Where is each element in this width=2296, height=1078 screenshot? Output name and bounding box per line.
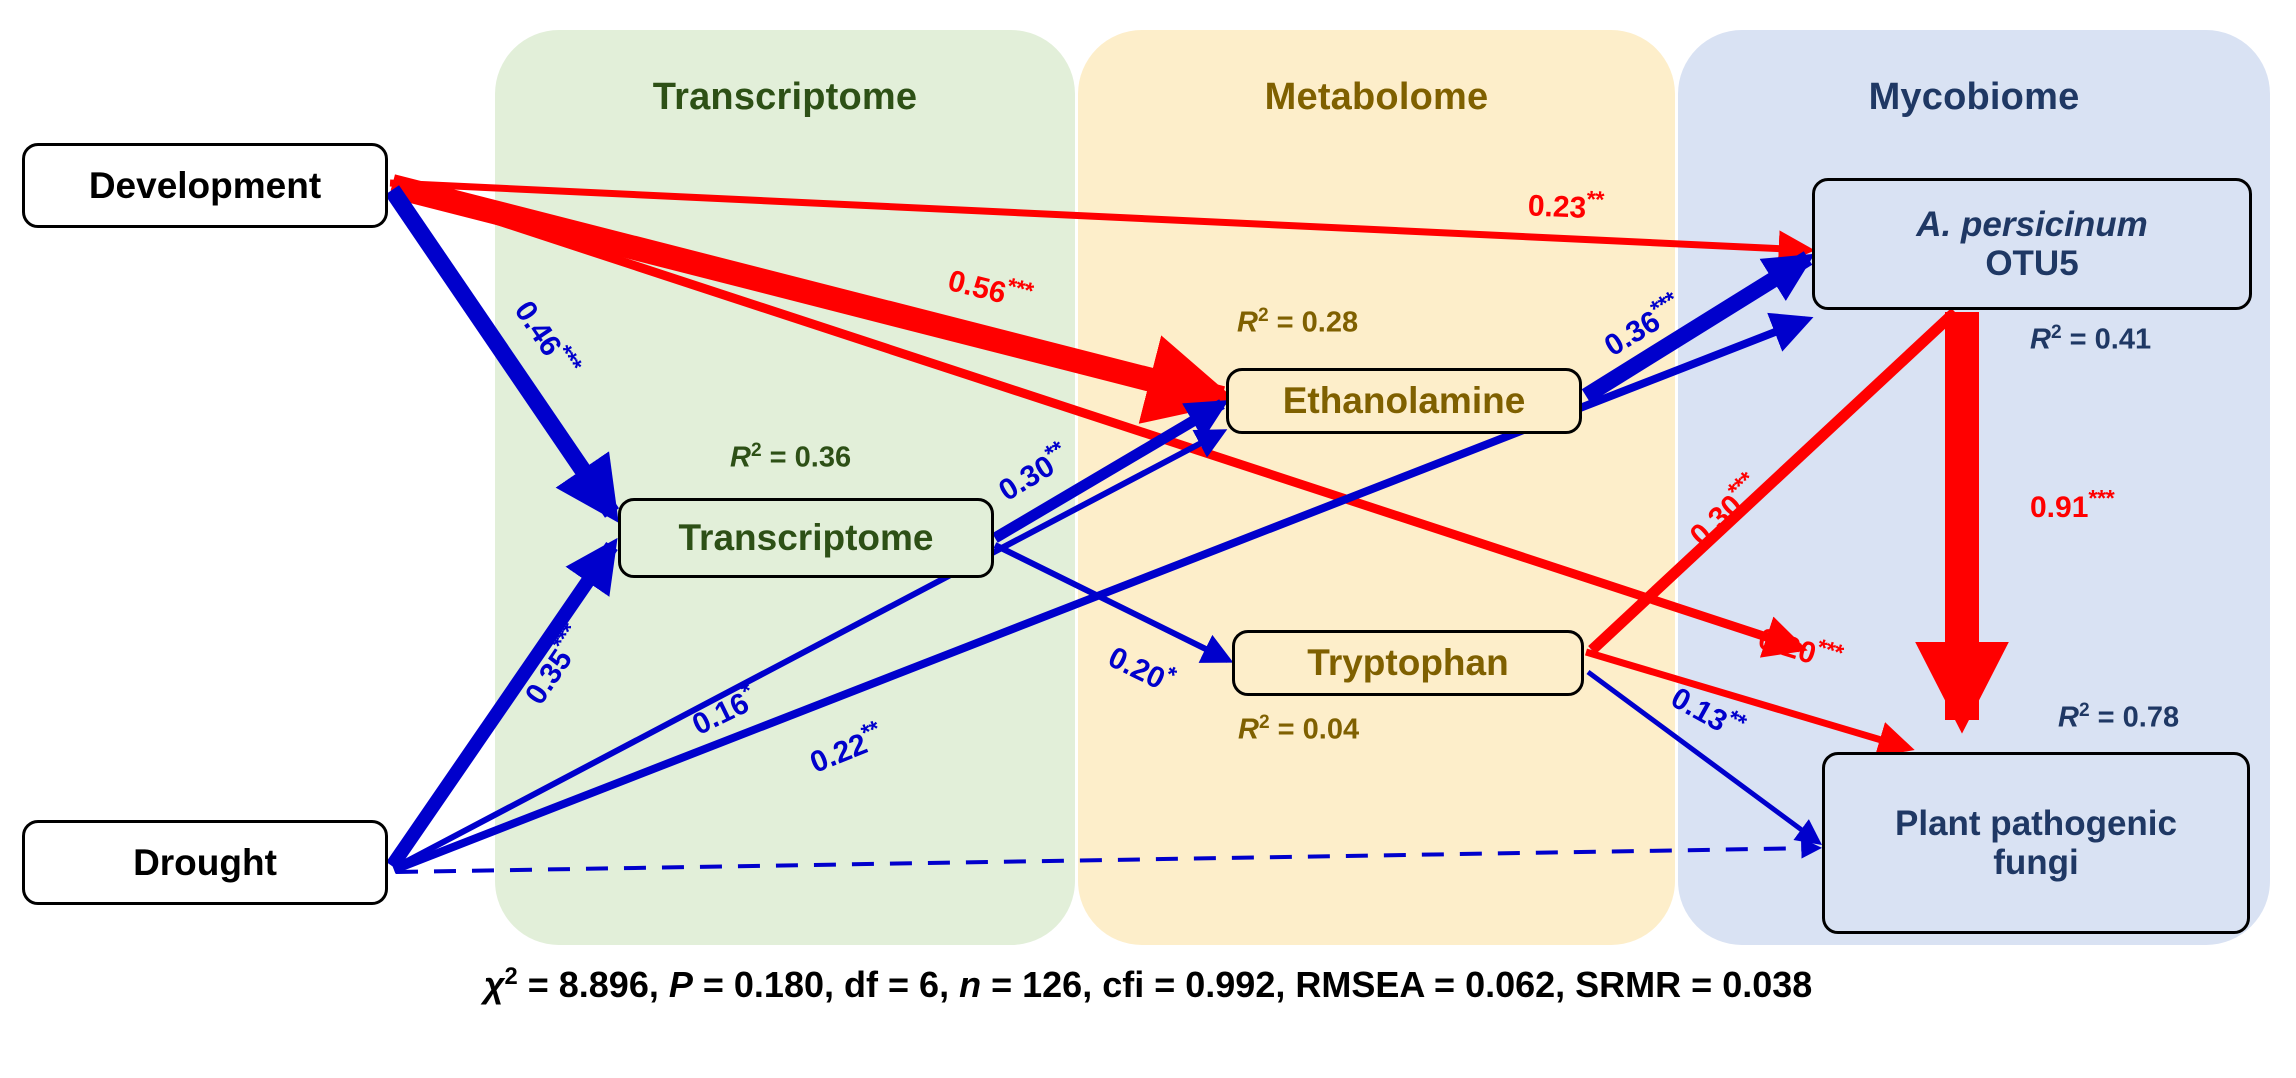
node-development-label: Development xyxy=(89,165,321,206)
sem-diagram-canvas: Transcriptome Metabolome Mycobiome xyxy=(0,0,2296,1078)
path-label-otu5-pathogens-stars: *** xyxy=(2088,485,2114,511)
r2-pathogens-value: 0.78 xyxy=(2123,702,2179,734)
model-fit-statistics: χ2 = 8.896, P = 0.180, df = 6, n = 126, … xyxy=(0,963,2296,1006)
path-label-otu5-pathogens: 0.91*** xyxy=(2030,485,2114,525)
fit-cfi-value: 0.992 xyxy=(1185,964,1275,1005)
r2-otu5-value: 0.41 xyxy=(2095,324,2151,356)
node-plant-pathogenic-fungi[interactable]: Plant pathogenic fungi xyxy=(1822,752,2250,934)
panel-title-transcriptome: Transcriptome xyxy=(495,76,1075,119)
panel-title-mycobiome: Mycobiome xyxy=(1678,76,2270,119)
r2-transcriptome-value: 0.36 xyxy=(795,442,851,474)
r2-tryptophan: R2 = 0.04 xyxy=(1238,712,1359,747)
fit-p-value: 0.180 xyxy=(734,964,824,1005)
node-development[interactable]: Development xyxy=(22,143,388,228)
r2-ethanolamine: R2 = 0.28 xyxy=(1237,305,1358,340)
node-drought[interactable]: Drought xyxy=(22,820,388,905)
node-transcriptome-label: Transcriptome xyxy=(679,517,934,558)
node-drought-label: Drought xyxy=(133,842,277,883)
fit-df-label: df xyxy=(844,964,878,1005)
fit-n-label: n xyxy=(959,964,981,1005)
r2-transcriptome: R2 = 0.36 xyxy=(730,440,851,475)
node-tryptophan-label: Tryptophan xyxy=(1307,642,1508,683)
fit-rmsea-label: RMSEA xyxy=(1295,964,1424,1005)
path-label-dev-otu5: 0.23** xyxy=(1527,183,1604,226)
panel-title-metabolome: Metabolome xyxy=(1078,76,1675,119)
node-ethanolamine[interactable]: Ethanolamine xyxy=(1226,368,1582,434)
path-label-dev-otu5-stars: ** xyxy=(1586,186,1604,213)
fit-srmr-value: 0.038 xyxy=(1722,964,1812,1005)
node-transcriptome[interactable]: Transcriptome xyxy=(618,498,994,578)
r2-pathogens: R2 = 0.78 xyxy=(2058,700,2179,735)
fit-cfi-label: cfi xyxy=(1102,964,1144,1005)
node-tryptophan[interactable]: Tryptophan xyxy=(1232,630,1584,696)
fit-rmsea-value: 0.062 xyxy=(1465,964,1555,1005)
node-otu5-species: A. persicinum xyxy=(1916,205,2147,244)
node-ethanolamine-label: Ethanolamine xyxy=(1283,380,1526,421)
r2-ethanolamine-value: 0.28 xyxy=(1302,307,1358,339)
fit-srmr-label: SRMR xyxy=(1575,964,1681,1005)
path-label-otu5-pathogens-coef: 0.91 xyxy=(2030,491,2088,524)
node-otu5-identifier: OTU5 xyxy=(1985,244,2078,283)
node-otu5[interactable]: A. persicinum OTU5 xyxy=(1812,178,2252,310)
node-pathogens-label-line2: fungi xyxy=(1993,843,2079,882)
fit-p-label: P xyxy=(669,964,693,1005)
panel-metabolome: Metabolome xyxy=(1078,30,1675,945)
panel-transcriptome: Transcriptome xyxy=(495,30,1075,945)
fit-chi-value: 8.896 xyxy=(559,964,649,1005)
node-pathogens-label-line1: Plant pathogenic xyxy=(1895,804,2177,843)
r2-tryptophan-value: 0.04 xyxy=(1303,714,1359,746)
path-label-dev-otu5-coef: 0.23 xyxy=(1527,189,1587,225)
r2-otu5: R2 = 0.41 xyxy=(2030,322,2151,357)
fit-df-value: 6 xyxy=(919,964,939,1005)
fit-n-value: 126 xyxy=(1022,964,1082,1005)
